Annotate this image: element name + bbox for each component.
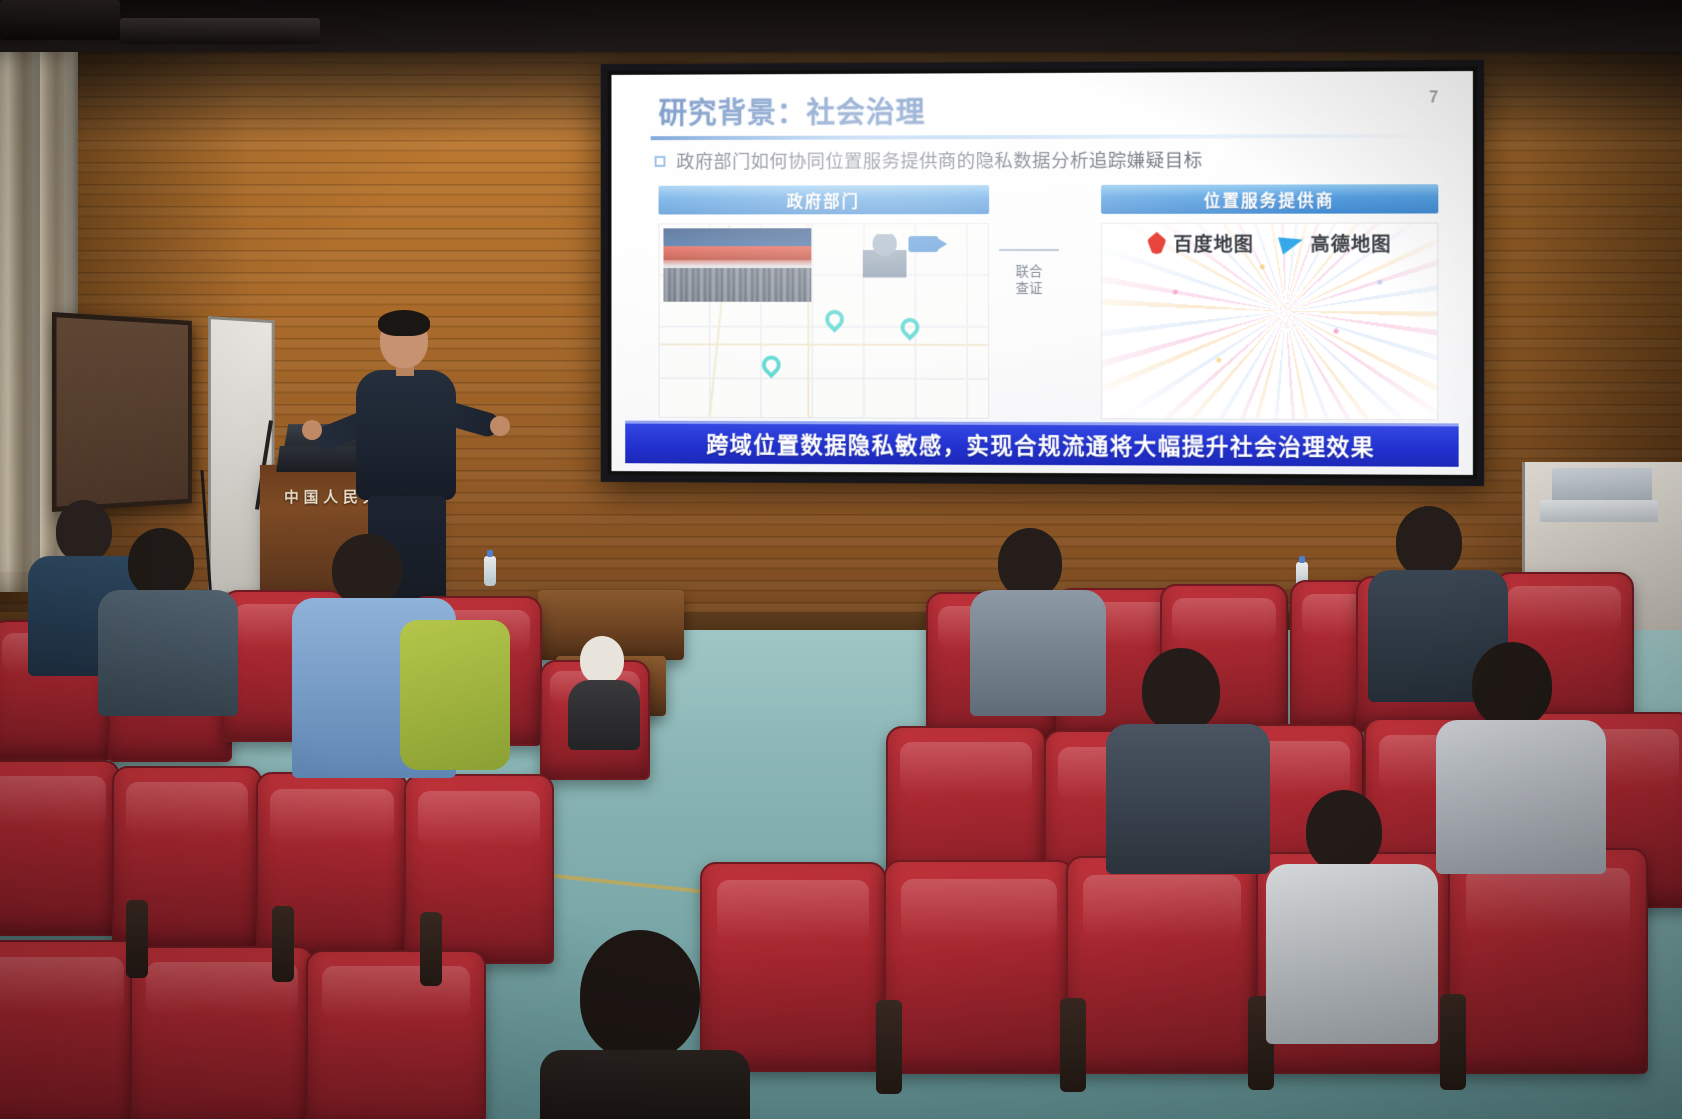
seat (0, 760, 120, 936)
audience-head (580, 636, 624, 684)
audience-body (540, 1050, 750, 1119)
slide-title: 研究背景：社会治理 (659, 89, 926, 132)
audience-head (580, 930, 700, 1060)
baidu-paw-icon (1147, 232, 1166, 254)
seat (884, 860, 1074, 1074)
speaker-torso (356, 370, 456, 500)
seat (0, 940, 140, 1119)
amap-logo: 高德地图 (1280, 229, 1391, 256)
audience-head (1306, 790, 1382, 872)
audience-head (332, 534, 402, 606)
speaker-right-hand (490, 416, 510, 436)
seat-armrest (272, 906, 294, 982)
audience-head (56, 500, 112, 562)
audience-body (98, 590, 238, 716)
audience-body (1266, 864, 1438, 1044)
cabinet-equipment-box (1552, 468, 1652, 502)
panel-lsp-header: 位置服务提供商 (1101, 184, 1438, 214)
lecture-hall-scene: 研究背景：社会治理 7 政府部门如何协同位置服务提供商的隐私数据分析追踪嫌疑目标… (0, 0, 1682, 1119)
panel-government: 政府部门 通过治安监控得到目标的稀疏轨迹 (659, 185, 990, 446)
panel-lsp-body: 百度地图 高德地图 (1101, 223, 1438, 421)
ceiling-duct (120, 18, 320, 44)
panel-lsp: 位置服务提供商 百度地图 高德地图 位置 (1101, 184, 1438, 447)
link-label-line1: 联合 (997, 263, 1061, 280)
seat (1066, 856, 1258, 1074)
seat-armrest (420, 912, 442, 986)
slide-bullet: 政府部门如何协同位置服务提供商的隐私数据分析追踪嫌疑目标 (655, 146, 1445, 174)
speaker-left-hand (302, 420, 322, 440)
seat (306, 950, 486, 1119)
baidu-map-logo-text: 百度地图 (1173, 229, 1254, 256)
cabinet-equipment-box-lower (1540, 500, 1658, 522)
photo-crowd (663, 268, 811, 302)
panel-government-header: 政府部门 (659, 185, 990, 214)
title-underline (651, 134, 1451, 140)
seat-armrest (126, 900, 148, 978)
baidu-map-logo: 百度地图 (1147, 229, 1254, 256)
water-bottle (484, 556, 496, 586)
seat-armrest (1440, 994, 1466, 1090)
cctv-surveillance-photo (663, 228, 811, 302)
amap-arrow-icon (1278, 231, 1305, 255)
seat (1448, 848, 1648, 1074)
seat-armrest (1060, 998, 1086, 1092)
slide-conclusion-banner: 跨域位置数据隐私敏感，实现合规流通将大幅提升社会治理效果 (625, 421, 1458, 467)
seat-armrest (876, 1000, 902, 1094)
link-label-line2: 查证 (997, 280, 1061, 297)
audience-jacket (400, 620, 510, 770)
projection-screen: 研究背景：社会治理 7 政府部门如何协同位置服务提供商的隐私数据分析追踪嫌疑目标… (601, 60, 1484, 486)
audience-head (1396, 506, 1462, 578)
presentation-slide: 研究背景：社会治理 7 政府部门如何协同位置服务提供商的隐私数据分析追踪嫌疑目标… (611, 71, 1472, 475)
audience-head (1472, 642, 1552, 728)
audience-head (1142, 648, 1220, 732)
photo-roof (663, 246, 811, 260)
audience-body (568, 680, 640, 750)
audience-body (970, 590, 1106, 716)
audience-body (1436, 720, 1606, 874)
slide-bullet-text: 政府部门如何协同位置服务提供商的隐私数据分析追踪嫌疑目标 (676, 147, 1202, 174)
audience-head (128, 528, 194, 598)
link-arrow-icon (999, 249, 1059, 251)
map-provider-logos: 百度地图 高德地图 (1102, 224, 1437, 262)
link-label: 联合 查证 (997, 263, 1061, 297)
camera-icon (908, 236, 938, 252)
amap-logo-text: 高德地图 (1310, 229, 1391, 256)
ceiling-vent (0, 0, 120, 40)
wall-display-board (52, 312, 192, 512)
panel-government-body (659, 223, 990, 419)
audience-body (1106, 724, 1270, 874)
person-icon (863, 234, 907, 294)
slide-page-number: 7 (1429, 89, 1438, 107)
window-curtain-secondary (0, 52, 40, 592)
seat (700, 862, 886, 1072)
speaker-hair (378, 310, 430, 336)
audience-head (998, 528, 1062, 598)
bullet-square-icon (655, 155, 666, 166)
